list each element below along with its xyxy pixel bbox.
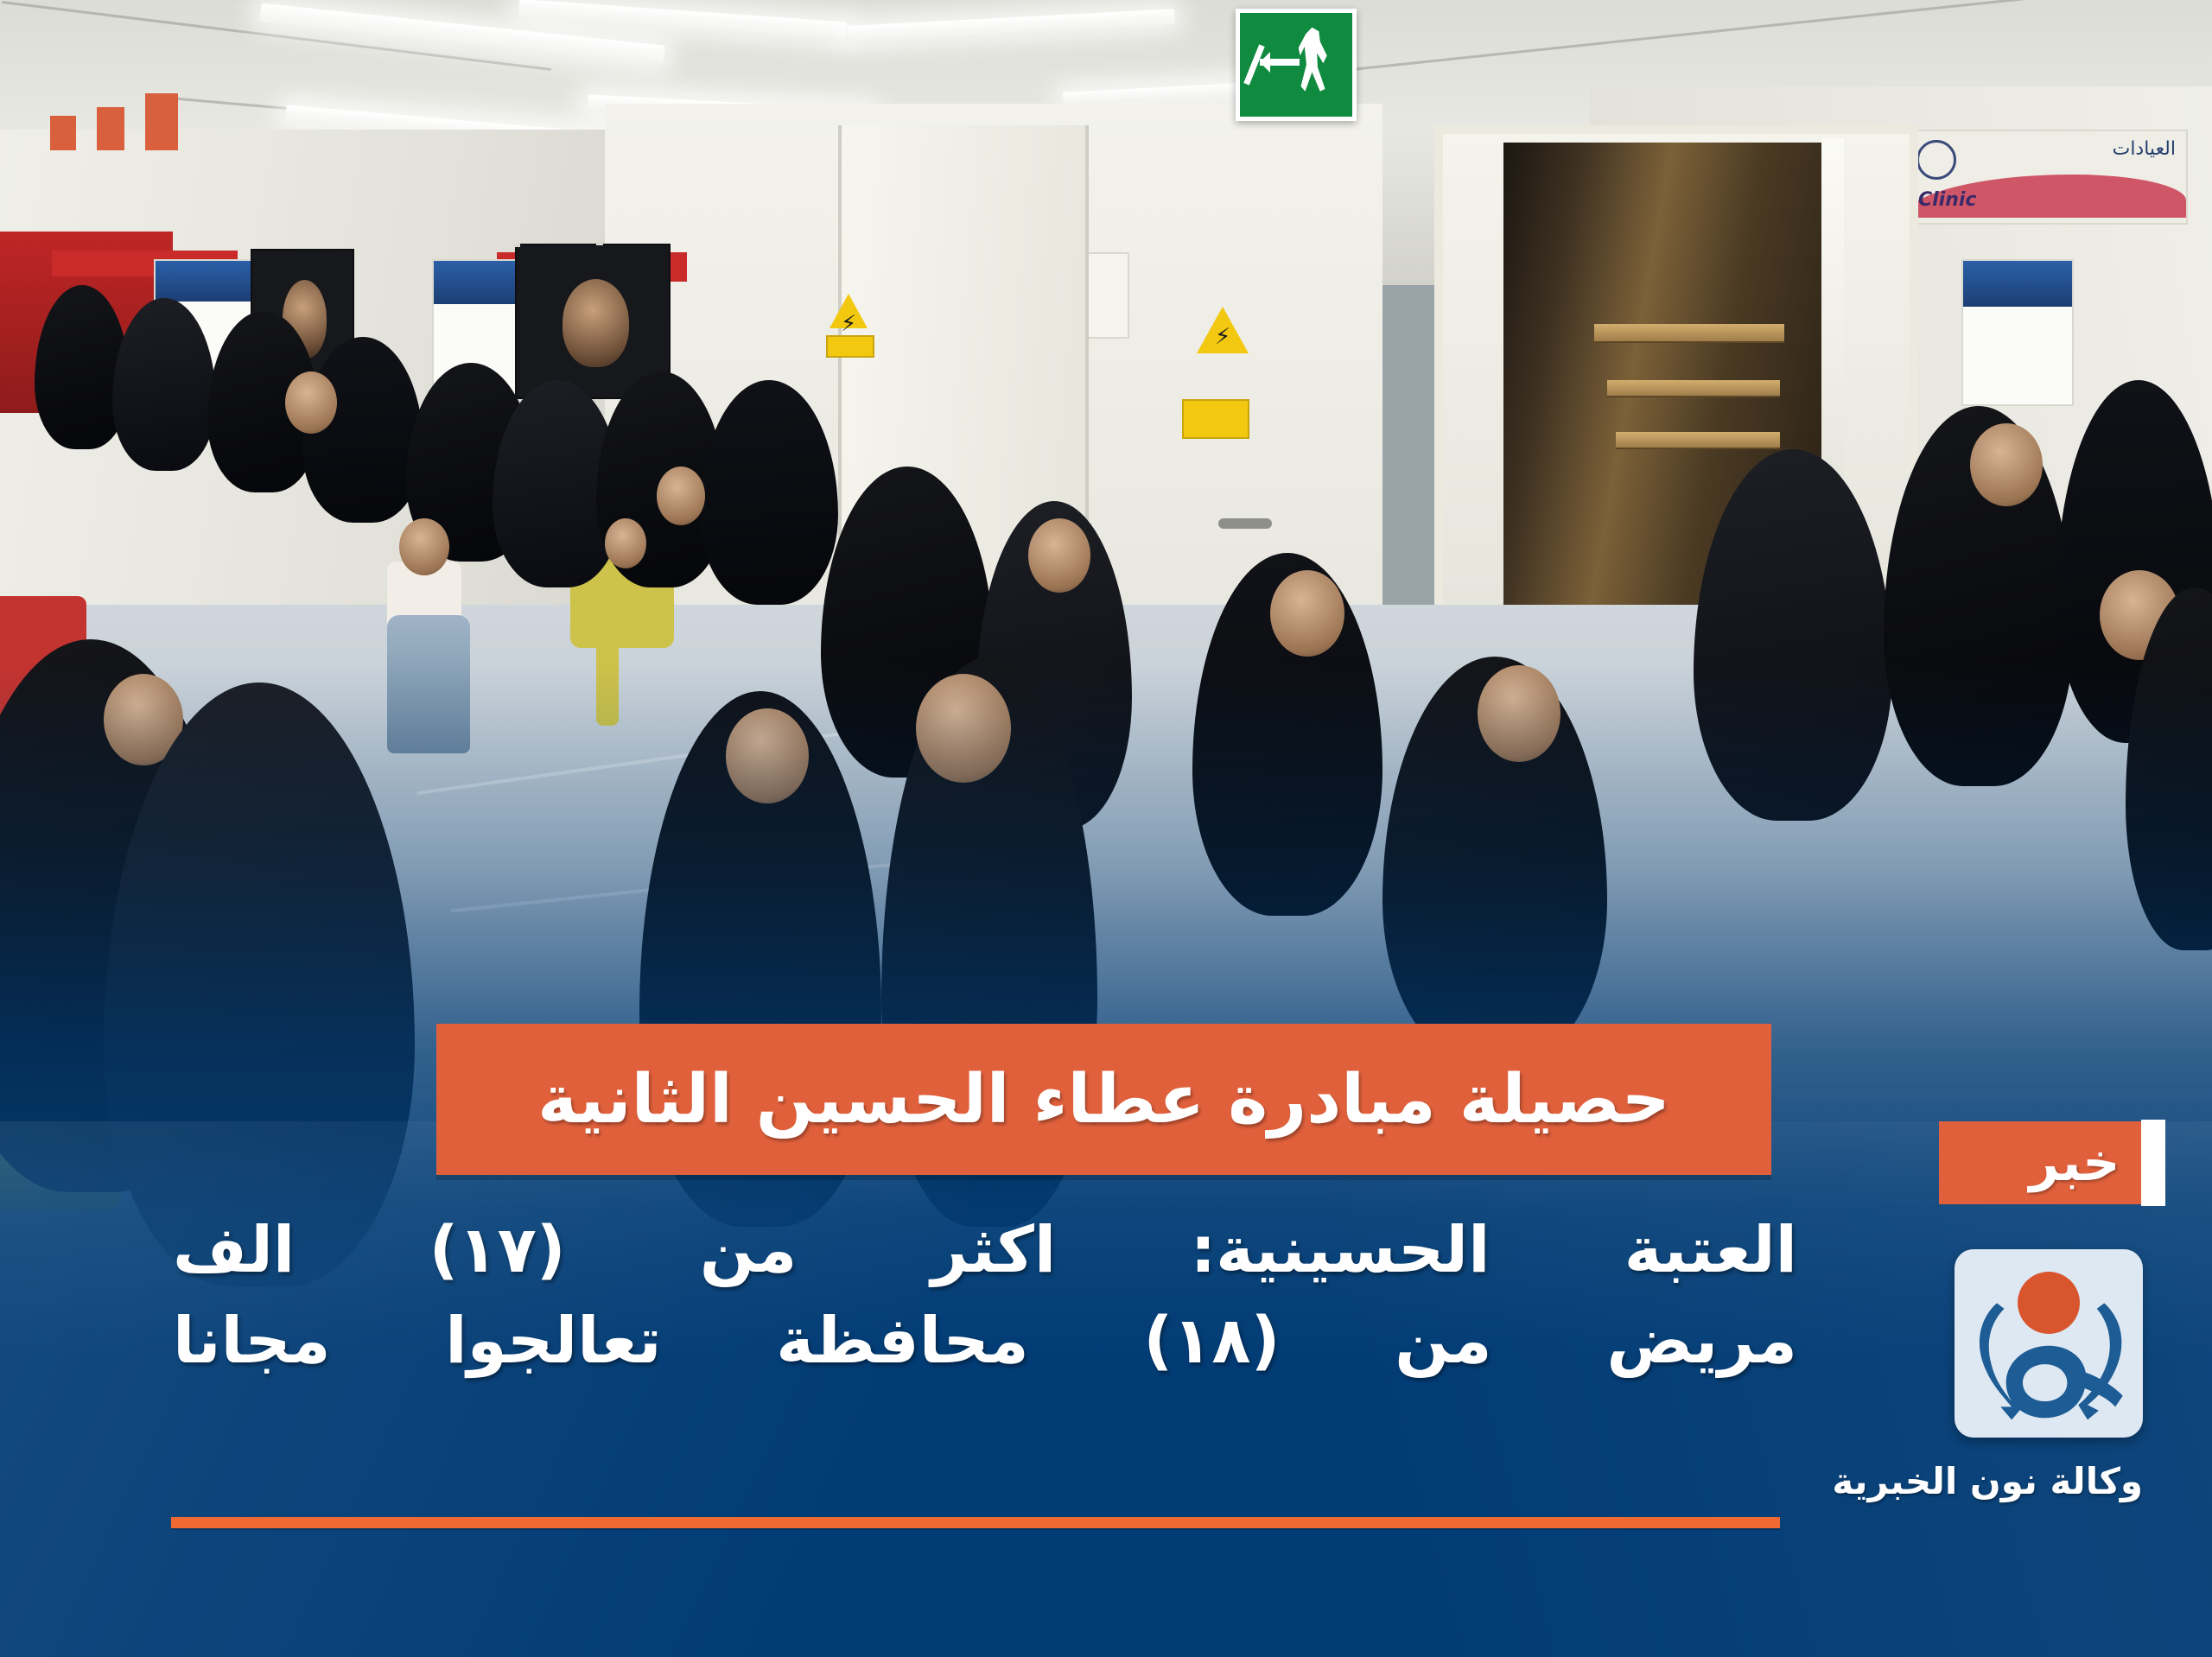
headline-line-1: العتبة الحسينية: اكثر من (١٧) الف [173,1205,1797,1296]
agency-logo [1955,1249,2143,1438]
three-bars-logo [50,93,178,150]
news-card: العيادات Clinic [0,0,2212,1657]
kicker-banner: حصيلة مبادرة عطاء الحسين الثانية [436,1024,1771,1175]
bar-1 [145,93,178,150]
agency-name: وكالة نون الخبرية [1939,1460,2143,1502]
news-badge: خبر [1939,1121,2162,1204]
bar-3 [50,116,76,150]
news-badge-label: خبر [1980,1137,2120,1189]
brand-column: خبر وكالة نون الخبرية [1851,1121,2162,1502]
headline: العتبة الحسينية: اكثر من (١٧) الف مريض م… [173,1205,1797,1387]
kicker-text: حصيلة مبادرة عطاء الحسين الثانية [537,1066,1670,1133]
orange-divider [171,1517,1780,1528]
news-badge-white-tick [2141,1120,2165,1206]
bar-2 [97,107,124,150]
noon-letterform-icon [1958,1298,2143,1427]
headline-line-2: مريض من (١٨) محافظة تعالجوا مجانا [173,1296,1797,1387]
